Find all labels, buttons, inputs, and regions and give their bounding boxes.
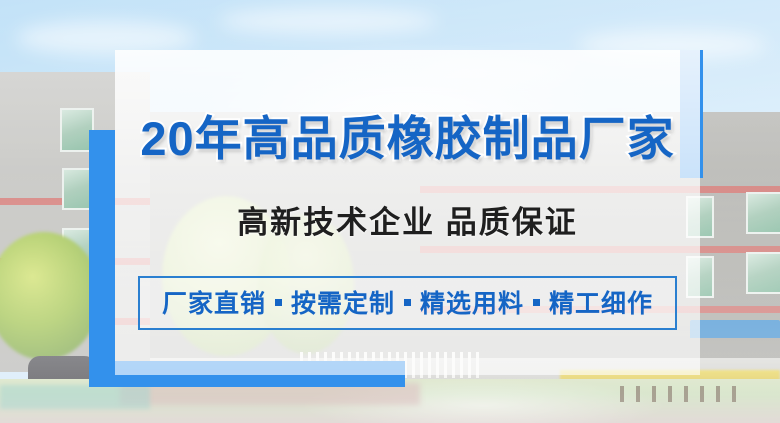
subheadline-text: 高新技术企业 品质保证 (237, 197, 578, 242)
separator-dot-icon (533, 299, 540, 306)
feature-item-2: 按需定制 (291, 284, 395, 320)
window (62, 168, 92, 210)
feature-item-4: 精工细作 (549, 284, 653, 320)
court-marking (0, 385, 150, 409)
bench (620, 386, 740, 402)
banner-content: 20年高品质橡胶制品厂家 高新技术企业 品质保证 厂家直销 按需定制 精选用料 … (115, 50, 700, 375)
headline-text: 20年高品质橡胶制品厂家 (140, 100, 674, 169)
separator-dot-icon (404, 299, 411, 306)
decor-bar-left-vertical (89, 130, 115, 387)
window (746, 252, 780, 294)
feature-list-box: 厂家直销 按需定制 精选用料 精工细作 (138, 276, 677, 330)
blue-canopy (690, 320, 780, 338)
window (746, 192, 780, 234)
feature-item-3: 精选用料 (420, 284, 524, 320)
separator-dot-icon (275, 299, 282, 306)
feature-item-1: 厂家直销 (162, 284, 266, 320)
promo-banner: 20年高品质橡胶制品厂家 高新技术企业 品质保证 厂家直销 按需定制 精选用料 … (0, 0, 780, 423)
